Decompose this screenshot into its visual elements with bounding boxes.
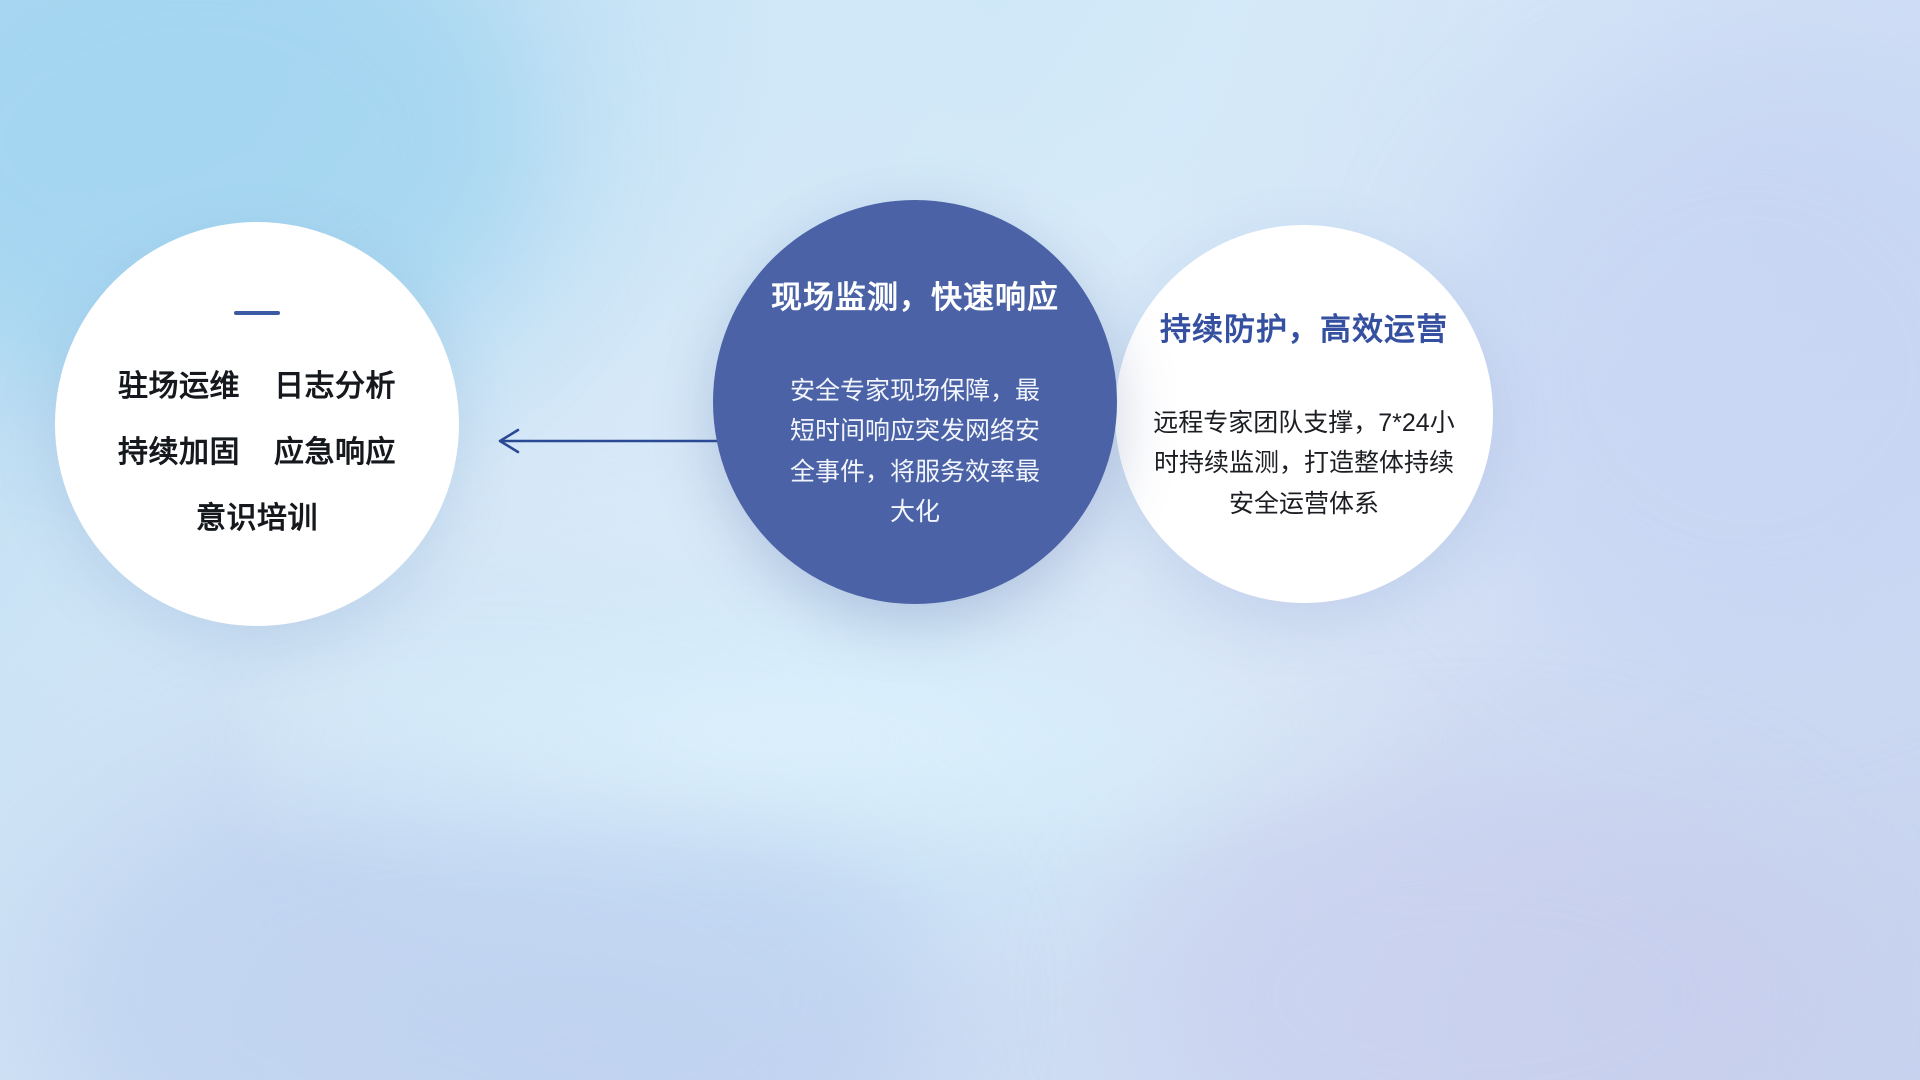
- keyword-item: 意识培训: [196, 493, 318, 537]
- keyword-item: 日志分析: [274, 361, 396, 405]
- card-title: 持续防护，高效运营: [1160, 304, 1448, 349]
- keyword-item: 驻场运维: [118, 361, 240, 405]
- keyword-row: 持续加固 应急响应: [118, 427, 396, 471]
- title-divider-dash: [234, 311, 280, 315]
- keyword-row: 意识培训: [118, 493, 396, 537]
- capability-keyword-list: 驻场运维 日志分析 持续加固 应急响应 意识培训: [118, 361, 396, 537]
- onsite-monitoring-circle[interactable]: 现场监测，快速响应 安全专家现场保障，最短时间响应突发网络安全事件，将服务效率最…: [713, 200, 1117, 604]
- capabilities-circle[interactable]: 驻场运维 日志分析 持续加固 应急响应 意识培训: [55, 222, 459, 626]
- keyword-row: 驻场运维 日志分析: [118, 361, 396, 405]
- keyword-item: 持续加固: [118, 427, 240, 471]
- background-sheen: [250, 590, 1500, 890]
- slide-canvas: 驻场运维 日志分析 持续加固 应急响应 意识培训 现场监测，快速响应 安全专家现…: [0, 0, 1920, 1080]
- continuous-protection-circle[interactable]: 持续防护，高效运营 远程专家团队支撑，7*24小时持续监测，打造整体持续安全运营…: [1115, 225, 1493, 603]
- card-title: 现场监测，快速响应: [771, 272, 1059, 317]
- card-body: 安全专家现场保障，最短时间响应突发网络安全事件，将服务效率最大化: [780, 371, 1050, 533]
- card-body: 远程专家团队支撑，7*24小时持续监测，打造整体持续安全运营体系: [1145, 403, 1463, 525]
- background-blob-right: [1440, 70, 1920, 670]
- keyword-item: 应急响应: [274, 427, 396, 471]
